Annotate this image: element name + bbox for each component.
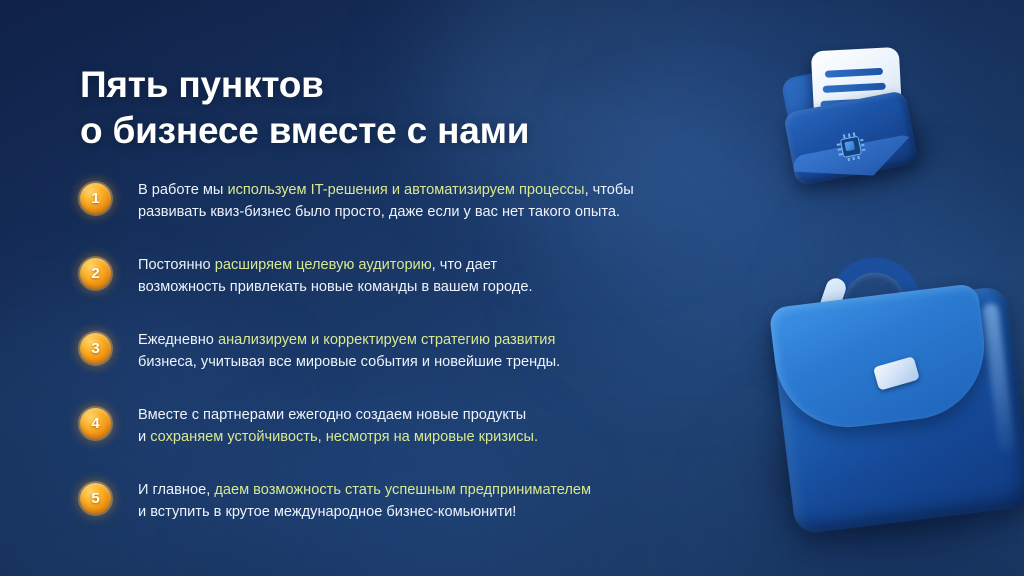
text-plain: Постоянно xyxy=(138,257,215,273)
list-item: 4 Вместе с партнерами ежегодно создаем н… xyxy=(80,405,720,457)
list-item: 3 Ежедневно анализируем и корректируем с… xyxy=(80,330,720,382)
microchip-icon xyxy=(840,136,862,158)
list-item-line: возможность привлекать новые команды в в… xyxy=(138,277,720,299)
text-plain: Ежедневно xyxy=(138,332,218,348)
list-item-line: и вступить в крутое международное бизнес… xyxy=(138,502,720,524)
text-plain: и xyxy=(138,429,150,445)
text-plain: , что дает xyxy=(432,257,497,273)
text-highlight: анализируем и корректируем стратегию раз… xyxy=(218,332,555,348)
number-badge: 4 xyxy=(80,408,111,439)
slide-canvas: Пять пунктов о бизнесе вместе с нами 1 В… xyxy=(0,0,1024,576)
page-title: Пять пунктов о бизнесе вместе с нами xyxy=(80,62,529,154)
list-item-line: Ежедневно анализируем и корректируем стр… xyxy=(138,330,720,352)
list-item-text: Ежедневно анализируем и корректируем стр… xyxy=(138,330,720,373)
list-item-line: Вместе с партнерами ежегодно создаем нов… xyxy=(138,405,720,427)
benefits-list: 1 В работе мы используем IT-решения и ав… xyxy=(80,180,720,555)
list-item-text: В работе мы используем IT-решения и авто… xyxy=(138,180,720,223)
text-plain: бизнеса, учитывая все мировые события и … xyxy=(138,354,560,370)
document-text-line xyxy=(823,83,886,93)
briefcase-icon xyxy=(745,235,1024,555)
text-plain: и вступить в крутое международное бизнес… xyxy=(138,504,516,520)
number-badge-label: 3 xyxy=(91,340,99,357)
list-item-text: Вместе с партнерами ежегодно создаем нов… xyxy=(138,405,720,448)
text-plain: развивать квиз-бизнес было просто, даже … xyxy=(138,204,620,220)
envelope-document-chip-icon xyxy=(774,40,937,196)
text-highlight: используем IT-решения и автоматизируем п… xyxy=(227,182,584,198)
briefcase-highlight xyxy=(982,303,1016,454)
text-highlight: сохраняем устойчивость, несмотря на миро… xyxy=(150,429,538,445)
number-badge: 3 xyxy=(80,333,111,364)
number-badge-label: 4 xyxy=(91,415,99,432)
number-badge-label: 5 xyxy=(91,490,99,507)
text-plain: возможность привлекать новые команды в в… xyxy=(138,279,533,295)
text-plain: Вместе с партнерами ежегодно создаем нов… xyxy=(138,407,526,423)
document-text-line xyxy=(825,68,883,78)
text-highlight: расширяем целевую аудиторию xyxy=(215,257,432,273)
list-item: 1 В работе мы используем IT-решения и ав… xyxy=(80,180,720,232)
number-badge: 1 xyxy=(80,183,111,214)
list-item-line: Постоянно расширяем целевую аудиторию, ч… xyxy=(138,255,720,277)
list-item-line: И главное, даем возможность стать успешн… xyxy=(138,480,720,502)
list-item-line: В работе мы используем IT-решения и авто… xyxy=(138,180,720,202)
text-highlight: даем возможность стать успешным предприн… xyxy=(214,482,591,498)
number-badge-label: 1 xyxy=(91,190,99,207)
list-item-line: развивать квиз-бизнес было просто, даже … xyxy=(138,202,720,224)
list-item-line: и сохраняем устойчивость, несмотря на ми… xyxy=(138,427,720,449)
list-item-text: Постоянно расширяем целевую аудиторию, ч… xyxy=(138,255,720,298)
list-item: 2 Постоянно расширяем целевую аудиторию,… xyxy=(80,255,720,307)
number-badge-label: 2 xyxy=(91,265,99,282)
list-item: 5 И главное, даем возможность стать успе… xyxy=(80,480,720,532)
list-item-text: И главное, даем возможность стать успешн… xyxy=(138,480,720,523)
text-plain: В работе мы xyxy=(138,182,227,198)
number-badge: 5 xyxy=(80,483,111,514)
text-plain: И главное, xyxy=(138,482,214,498)
number-badge: 2 xyxy=(80,258,111,289)
text-plain: , чтобы xyxy=(585,182,634,198)
list-item-line: бизнеса, учитывая все мировые события и … xyxy=(138,352,720,374)
